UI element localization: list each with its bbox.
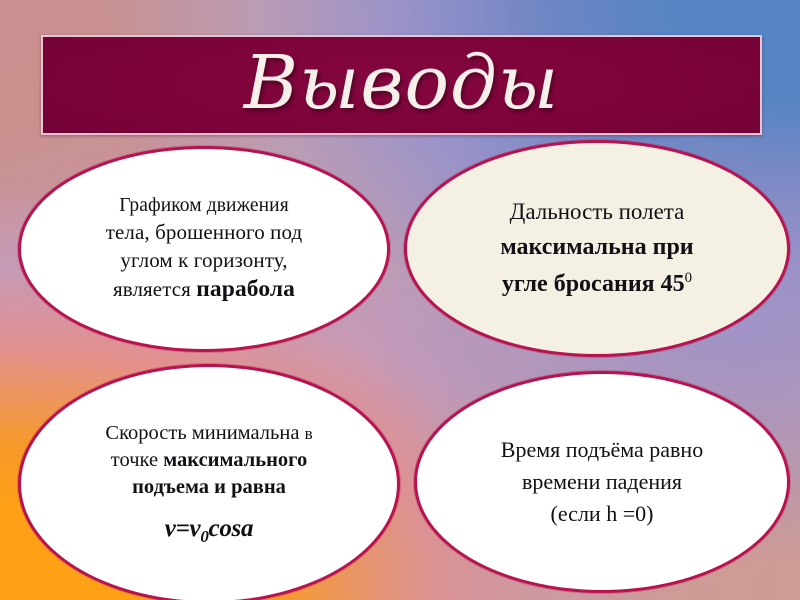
conclusion-1-line-4: является парабола xyxy=(113,276,295,303)
conclusion-ellipse-max-range-at-45: Дальность полета максимальна при угле бр… xyxy=(404,140,790,357)
conclusion-4-line-1: Время подъёма равно xyxy=(501,437,703,463)
conclusion-4-line-2: времени падения xyxy=(522,469,682,495)
formula-trail: cosa xyxy=(209,515,254,542)
conclusion-1-keyword-parabola: парабола xyxy=(196,276,295,302)
presentation-slide: Выводы Графиком движения тела, брошенног… xyxy=(0,0,800,600)
slide-title: Выводы xyxy=(244,46,559,120)
conclusion-ellipse-graph-is-parabola: Графиком движения тела, брошенного под у… xyxy=(18,146,390,352)
conclusion-2-line-2: максимальна при xyxy=(500,234,693,261)
conclusion-3-line-1-main: Скорость минимальна xyxy=(105,422,304,444)
conclusion-2-line-1: Дальность полета xyxy=(510,199,685,225)
conclusion-2-line-3: угле бросания 450 xyxy=(502,270,692,298)
velocity-formula: v=v0cosa xyxy=(165,515,253,547)
conclusion-ellipse-rise-equals-fall-time: Время подъёма равно времени падения (есл… xyxy=(414,371,790,593)
conclusion-3-line-1-small: в xyxy=(305,424,313,443)
conclusion-4-line-3: (если h =0) xyxy=(551,501,654,527)
conclusion-1-line-2: тела, брошенного под xyxy=(106,220,303,245)
conclusion-1-line-3: углом к горизонту, xyxy=(120,248,287,273)
formula-subscript: 0 xyxy=(200,527,208,546)
title-banner: Выводы xyxy=(41,35,762,135)
conclusion-3-line-2-light: точке xyxy=(111,449,163,471)
conclusion-3-line-2-bold: максимального xyxy=(163,449,307,471)
conclusion-3-line-3: подъема и равна xyxy=(132,476,286,499)
conclusion-1-line-1: Графиком движения xyxy=(119,195,289,217)
conclusion-2-line-3-text: угле бросания 45 xyxy=(502,271,685,297)
conclusion-3-line-2: точке максимального xyxy=(111,449,307,472)
conclusion-1-line-4-prefix: является xyxy=(113,277,196,301)
conclusion-3-line-1: Скорость минимальна в xyxy=(105,422,312,445)
formula-lead: v=v xyxy=(165,515,201,542)
degree-superscript: 0 xyxy=(685,270,692,286)
conclusion-ellipse-min-speed-at-apex: Скорость минимальна в точке максимальног… xyxy=(18,364,400,600)
